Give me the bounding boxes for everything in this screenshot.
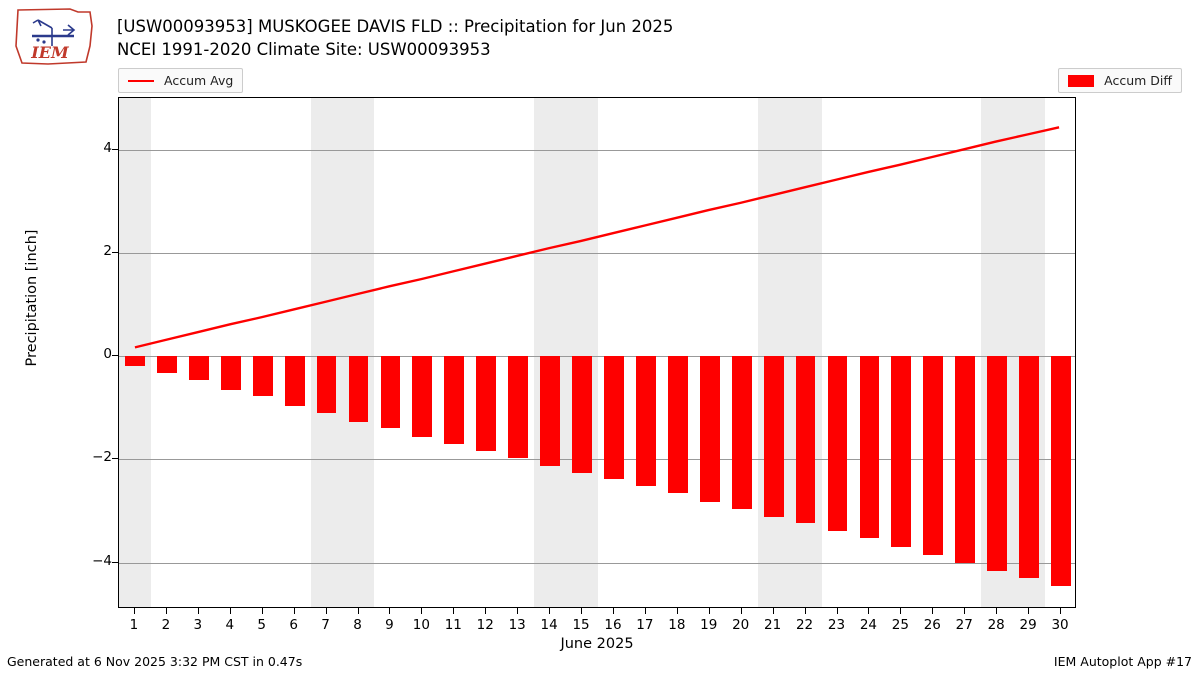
x-axis-tick-label: 29 xyxy=(1013,617,1043,633)
x-axis-tick-label: 27 xyxy=(949,617,979,633)
x-axis-tick-mark xyxy=(517,608,518,614)
x-axis-tick-mark xyxy=(230,608,231,614)
x-axis-tick-label: 2 xyxy=(151,617,181,633)
x-axis-tick-mark xyxy=(453,608,454,614)
x-axis-tick-label: 21 xyxy=(758,617,788,633)
chart-title-line2: NCEI 1991-2020 Climate Site: USW00093953 xyxy=(117,39,977,62)
x-axis-tick-label: 8 xyxy=(343,617,373,633)
x-axis-tick-label: 15 xyxy=(566,617,596,633)
x-axis-tick-label: 20 xyxy=(726,617,756,633)
x-axis-tick-label: 22 xyxy=(790,617,820,633)
x-axis-tick-mark xyxy=(262,608,263,614)
x-axis-tick-mark xyxy=(613,608,614,614)
x-axis-tick-mark xyxy=(485,608,486,614)
x-axis-tick-mark xyxy=(421,608,422,614)
x-axis-tick-mark xyxy=(932,608,933,614)
x-axis-tick-mark xyxy=(1060,608,1061,614)
x-axis-tick-mark xyxy=(996,608,997,614)
x-axis-tick-label: 6 xyxy=(279,617,309,633)
x-axis-tick-mark xyxy=(358,608,359,614)
x-axis-tick-label: 17 xyxy=(630,617,660,633)
x-axis-tick-label: 10 xyxy=(406,617,436,633)
x-axis-tick-label: 3 xyxy=(183,617,213,633)
x-axis-tick-mark xyxy=(837,608,838,614)
x-axis-tick-mark xyxy=(198,608,199,614)
legend-accum-diff-label: Accum Diff xyxy=(1104,73,1172,88)
x-axis-tick-mark xyxy=(677,608,678,614)
x-axis-tick-mark xyxy=(868,608,869,614)
x-axis-tick-mark xyxy=(964,608,965,614)
x-axis-tick-mark xyxy=(294,608,295,614)
footer-generated-text: Generated at 6 Nov 2025 3:32 PM CST in 0… xyxy=(7,654,302,669)
x-axis-tick-label: 28 xyxy=(981,617,1011,633)
x-axis-tick-mark xyxy=(581,608,582,614)
legend-accum-avg[interactable]: Accum Avg xyxy=(118,68,243,93)
x-axis-tick-mark xyxy=(166,608,167,614)
x-axis-tick-label: 12 xyxy=(470,617,500,633)
x-axis-tick-mark xyxy=(326,608,327,614)
chart-title-line1: [USW00093953] MUSKOGEE DAVIS FLD :: Prec… xyxy=(117,16,977,39)
x-axis-tick-label: 19 xyxy=(694,617,724,633)
x-axis-tick-label: 26 xyxy=(917,617,947,633)
x-axis-tick-mark xyxy=(134,608,135,614)
x-axis-tick-label: 23 xyxy=(822,617,852,633)
x-axis-tick-mark xyxy=(805,608,806,614)
legend-accum-diff[interactable]: Accum Diff xyxy=(1058,68,1182,93)
x-axis-tick-label: 25 xyxy=(885,617,915,633)
x-axis-tick-label: 9 xyxy=(374,617,404,633)
x-axis-tick-mark xyxy=(549,608,550,614)
x-axis-tick-label: 1 xyxy=(119,617,149,633)
line-series-accum-avg xyxy=(119,98,1075,607)
x-axis-tick-mark xyxy=(645,608,646,614)
y-axis-tick-label: 0 xyxy=(58,346,112,362)
x-axis-tick-label: 18 xyxy=(662,617,692,633)
legend-accum-avg-label: Accum Avg xyxy=(164,73,233,88)
accum-avg-line xyxy=(135,127,1059,347)
x-axis-tick-label: 14 xyxy=(534,617,564,633)
legend-line-swatch-icon xyxy=(128,80,154,82)
x-axis-tick-label: 11 xyxy=(438,617,468,633)
iem-logo[interactable]: IEM xyxy=(8,6,100,68)
chart-title: [USW00093953] MUSKOGEE DAVIS FLD :: Prec… xyxy=(117,16,977,61)
x-axis-tick-mark xyxy=(773,608,774,614)
footer-app-text: IEM Autoplot App #17 xyxy=(1054,654,1192,669)
legend-bar-swatch-icon xyxy=(1068,75,1094,87)
x-axis-tick-label: 13 xyxy=(502,617,532,633)
x-axis-tick-label: 5 xyxy=(247,617,277,633)
x-axis-tick-mark xyxy=(389,608,390,614)
x-axis-tick-labels: 1234567891011121314151617181920212223242… xyxy=(118,608,1076,638)
x-axis-tick-label: 24 xyxy=(853,617,883,633)
y-axis-tick-label: −4 xyxy=(58,553,112,569)
x-axis-tick-label: 7 xyxy=(311,617,341,633)
x-axis-title: June 2025 xyxy=(118,636,1076,652)
y-axis-tick-label: 4 xyxy=(58,140,112,156)
x-axis-tick-mark xyxy=(900,608,901,614)
x-axis-tick-mark xyxy=(709,608,710,614)
plot-area[interactable] xyxy=(118,97,1076,608)
y-axis-tick-label: −2 xyxy=(58,449,112,465)
x-axis-tick-label: 4 xyxy=(215,617,245,633)
y-axis-tick-label: 2 xyxy=(58,243,112,259)
y-axis-tick-labels: 420−2−4 xyxy=(50,97,112,608)
x-axis-tick-label: 16 xyxy=(598,617,628,633)
x-axis-tick-label: 30 xyxy=(1045,617,1075,633)
x-axis-tick-mark xyxy=(1028,608,1029,614)
svg-text:IEM: IEM xyxy=(30,43,70,62)
x-axis-tick-mark xyxy=(741,608,742,614)
chart-page: IEM [USW00093953] MUSKOGEE DAVIS FLD :: … xyxy=(0,0,1200,675)
y-axis-title: Precipitation [inch] xyxy=(24,178,40,418)
